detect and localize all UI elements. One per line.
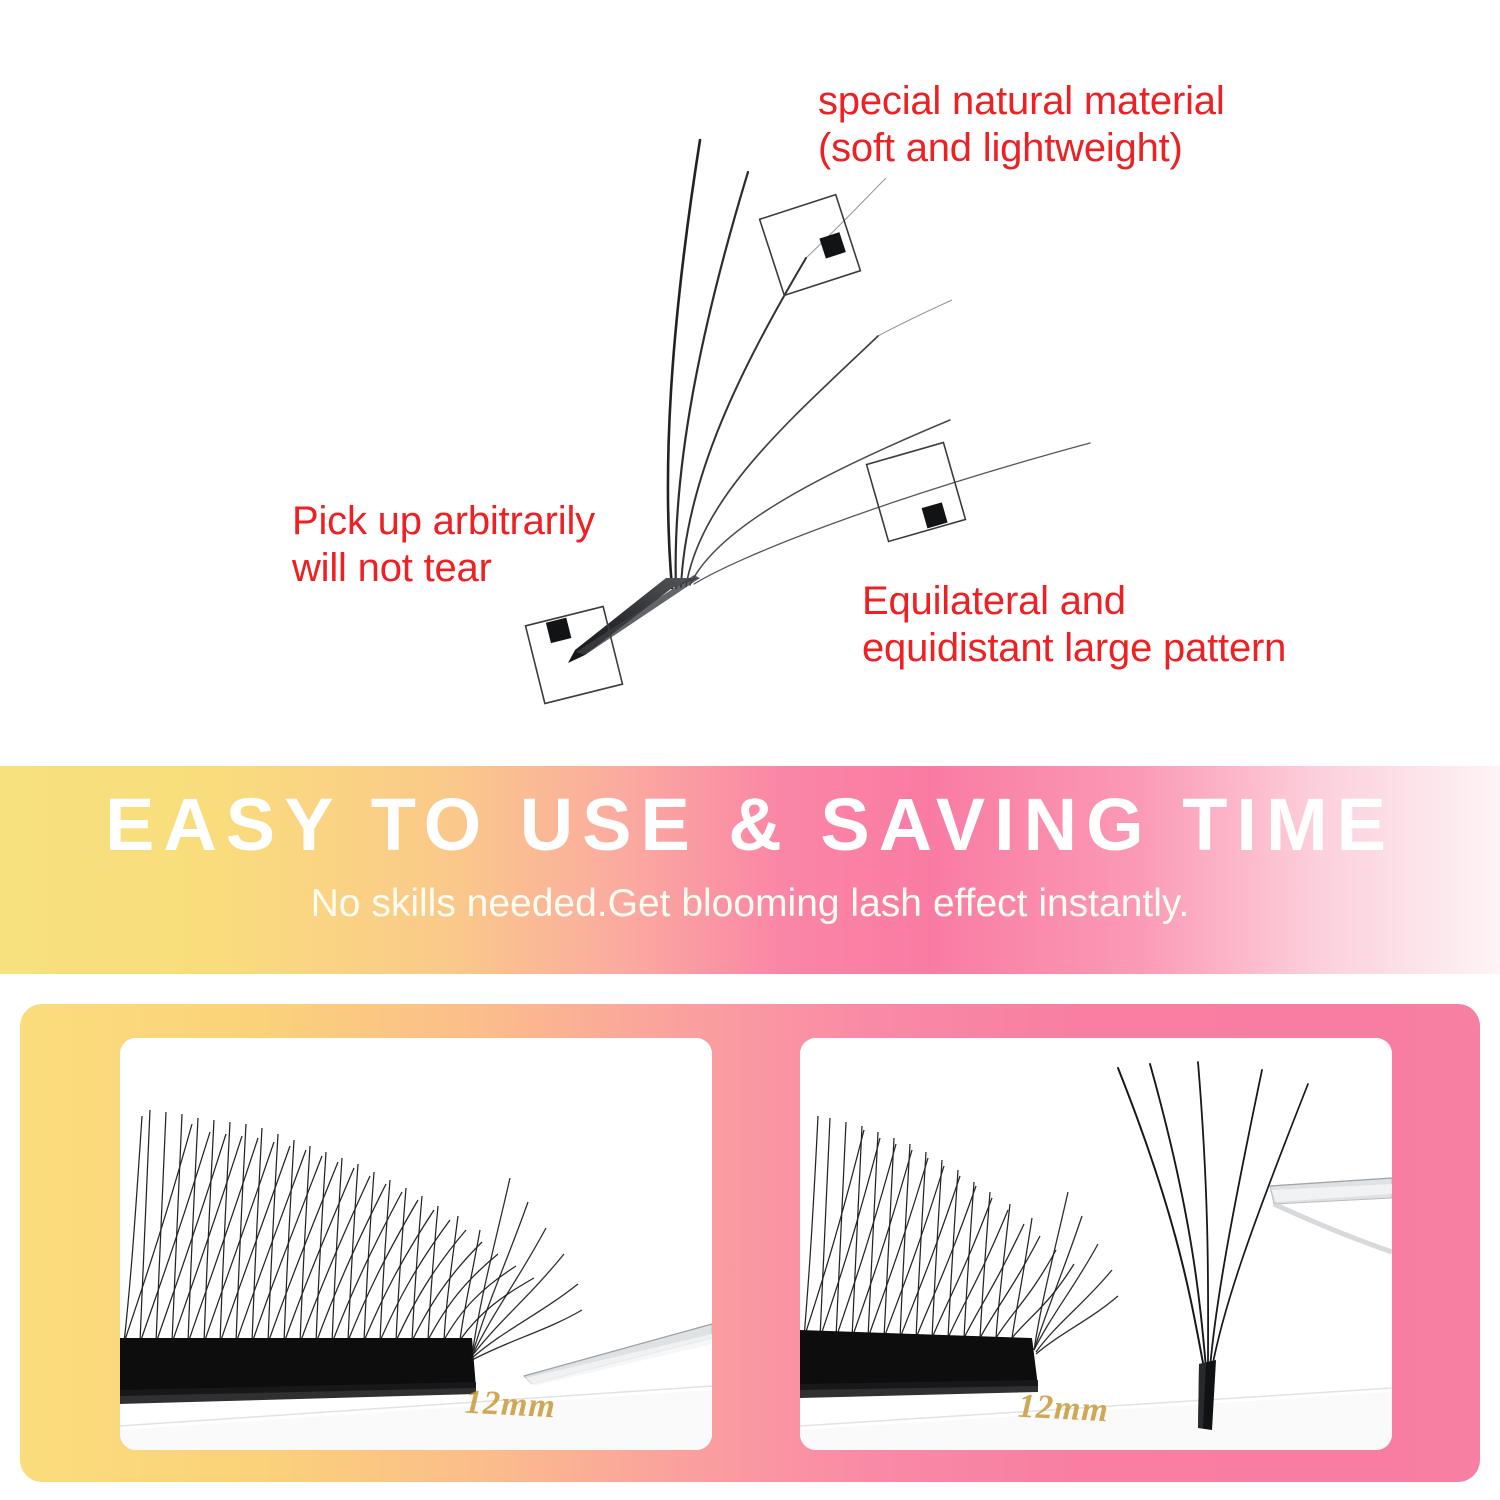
- photo-card-lash-fan-pickup: 12mm: [800, 1038, 1392, 1450]
- banner-subheadline: No skills needed.Get blooming lash effec…: [0, 884, 1500, 923]
- callout-marker-middle: [867, 443, 966, 542]
- lash-fan-pickup-photo: [800, 1038, 1392, 1450]
- callout-special-natural-material: special natural material (soft and light…: [818, 78, 1225, 172]
- size-label-12mm: 12mm: [1017, 1388, 1110, 1431]
- product-infographic: special natural material (soft and light…: [0, 0, 1500, 1500]
- easy-to-use-banner: EASY TO USE & SAVING TIME No skills need…: [0, 766, 1500, 974]
- product-photos-frame: 12mm: [20, 1004, 1480, 1482]
- callout-equilateral-equidistant: Equilateral and equidistant large patter…: [862, 578, 1286, 672]
- banner-headline: EASY TO USE & SAVING TIME: [0, 788, 1500, 862]
- lash-tray-photo: [120, 1038, 712, 1450]
- lash-strands: [668, 140, 1090, 588]
- size-label-12mm: 12mm: [464, 1384, 557, 1427]
- callout-marker-top: [760, 195, 861, 296]
- callout-pick-up-arbitrarily: Pick up arbitrarily will not tear: [292, 498, 595, 592]
- photo-card-lash-tray: 12mm: [120, 1038, 712, 1450]
- lash-fan-diagram-section: special natural material (soft and light…: [0, 0, 1500, 765]
